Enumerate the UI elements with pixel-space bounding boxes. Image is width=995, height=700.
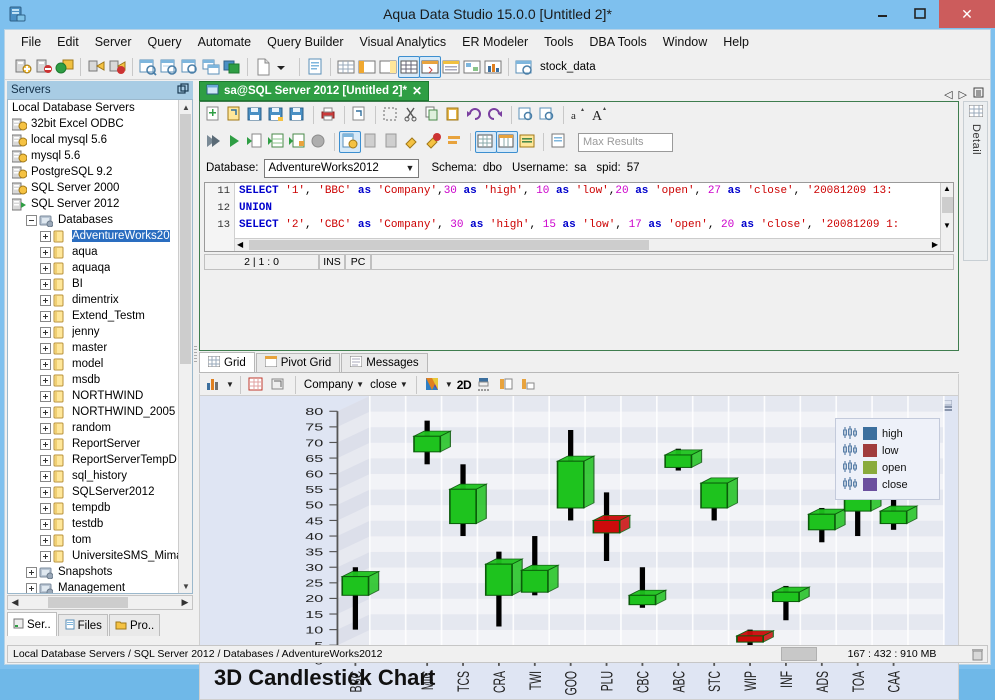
- detail-grid-icon: [969, 105, 983, 120]
- toolbar-separator: [295, 376, 296, 394]
- decrease-font-icon[interactable]: a: [569, 105, 589, 125]
- status-bar: Local Database Servers / SQL Server 2012…: [7, 645, 988, 663]
- chart-label-toggle-icon[interactable]: [519, 375, 539, 395]
- menu-help[interactable]: Help: [715, 32, 757, 52]
- results-tab-bar: Grid Pivot Grid Messages: [199, 353, 959, 373]
- chart-grid-icon[interactable]: [247, 375, 267, 395]
- tree-item-label: Management: [58, 582, 125, 594]
- pc-indicator: PC: [345, 254, 371, 270]
- tree-item-label: PostgreSQL 9.2: [31, 166, 112, 178]
- tree-item[interactable]: BI: [8, 276, 192, 292]
- tab-projects-label: Pro..: [130, 620, 154, 632]
- select-all-icon[interactable]: [381, 105, 401, 125]
- menu-dba-tools[interactable]: DBA Tools: [581, 32, 654, 52]
- scroll-up-arrow[interactable]: ▲: [179, 100, 193, 114]
- tree-item[interactable]: ReportServer: [8, 436, 192, 452]
- tree-item[interactable]: Management: [8, 580, 192, 594]
- line-number-gutter: 11 12 13: [205, 183, 235, 251]
- svg-text:35: 35: [305, 546, 323, 557]
- chart-type-dropdown-icon[interactable]: ▼: [226, 380, 234, 389]
- toolbar-separator: [416, 376, 417, 394]
- hscroll-right-arrow[interactable]: ▶: [178, 596, 192, 609]
- sql-vertical-scrollbar[interactable]: ▲ ▼: [940, 183, 953, 251]
- legend-label-low: low: [882, 445, 899, 457]
- application-window: Aqua Data Studio 15.0.0 [Untitled 2]* ✕ …: [0, 0, 995, 669]
- find-icon[interactable]: [517, 105, 537, 125]
- refresh-icon[interactable]: [350, 105, 370, 125]
- tree-root[interactable]: Local Database Servers: [8, 100, 192, 116]
- editor-tab-close-icon[interactable]: ✕: [412, 84, 422, 98]
- pivot-grid-tab-icon: [265, 356, 277, 370]
- toolbar-separator: [80, 58, 81, 76]
- tree-item[interactable]: ReportServerTempD: [8, 452, 192, 468]
- tree-horizontal-scrollbar[interactable]: ◀ ▶: [7, 595, 193, 610]
- tree-item-label: aqua: [72, 246, 98, 258]
- tree-expander-icon[interactable]: [40, 503, 51, 514]
- tab-projects[interactable]: Pro..: [109, 614, 160, 636]
- servers-panel-header: Servers: [7, 81, 193, 99]
- tree-expander-icon[interactable]: [40, 471, 51, 482]
- main-toolbar: stock_data: [5, 54, 990, 80]
- svg-text:WIP: WIP: [741, 671, 760, 691]
- legend-item: low: [842, 442, 933, 459]
- tab-next-icon[interactable]: ▷: [959, 88, 967, 101]
- line-number: 12: [205, 200, 234, 217]
- tree-item[interactable]: aquaqa: [8, 260, 192, 276]
- redo-icon[interactable]: [486, 105, 506, 125]
- compare-windows-icon[interactable]: [222, 57, 242, 77]
- toolbar-separator: [330, 58, 331, 76]
- menu-file[interactable]: File: [13, 32, 49, 52]
- tree-expander-icon[interactable]: [40, 295, 51, 306]
- legend-item: high: [842, 425, 933, 442]
- undock-icon[interactable]: [177, 83, 189, 98]
- tab-files-label: Files: [78, 620, 102, 632]
- menu-automate[interactable]: Automate: [190, 32, 260, 52]
- legend-swatch-close: [863, 478, 877, 491]
- tree-expander-icon[interactable]: [40, 391, 51, 402]
- results-settings-icon[interactable]: [518, 132, 538, 152]
- connect-plug-icon[interactable]: [86, 57, 106, 77]
- commit-icon[interactable]: [361, 132, 381, 152]
- database-icon: [53, 390, 68, 403]
- paste-icon[interactable]: [444, 105, 464, 125]
- database-icon: [53, 422, 68, 435]
- schema-value: dbo: [483, 162, 502, 174]
- minimize-button[interactable]: [863, 0, 901, 28]
- tree-item[interactable]: SQL Server 2012: [8, 196, 192, 212]
- svg-text:a: a: [571, 110, 576, 122]
- panel-bottom-tabs: Ser.. Files Pro..: [7, 612, 193, 636]
- chart-resize-icon[interactable]: [475, 375, 495, 395]
- files-tab-icon: [64, 619, 75, 633]
- execute-to-grid-icon[interactable]: [267, 132, 287, 152]
- disconnect-plug-icon[interactable]: [107, 57, 127, 77]
- tree-expander-icon[interactable]: [40, 231, 51, 242]
- candlestick-glyph-icon: [842, 477, 858, 493]
- tree-expander-icon[interactable]: [40, 375, 51, 386]
- server-tree[interactable]: Local Database Servers32bit Excel ODBClo…: [7, 99, 193, 594]
- svg-text:PLU: PLU: [597, 671, 616, 691]
- tree-item[interactable]: master: [8, 340, 192, 356]
- svg-text:75: 75: [305, 422, 323, 433]
- tab-list-icon[interactable]: [973, 87, 984, 101]
- tree-item[interactable]: NORTHWIND_2005: [8, 404, 192, 420]
- tree-item-label: local mysql 5.6: [31, 134, 107, 146]
- chevron-down-icon: ▼: [356, 380, 364, 389]
- tree-item-label: AdventureWorks20: [72, 230, 170, 242]
- tree-expander-icon[interactable]: [40, 519, 51, 530]
- form-view-icon[interactable]: [357, 57, 377, 77]
- tree-item[interactable]: jenny: [8, 324, 192, 340]
- tab-messages[interactable]: Messages: [341, 353, 427, 372]
- detail-label: Detail: [970, 124, 982, 155]
- tree-expander-icon[interactable]: [40, 535, 51, 546]
- tree-item[interactable]: tempdb: [8, 500, 192, 516]
- tree-expander-icon[interactable]: [40, 407, 51, 418]
- tree-item[interactable]: Databases: [8, 212, 192, 228]
- find-replace-icon[interactable]: [538, 105, 558, 125]
- menu-tools[interactable]: Tools: [536, 32, 581, 52]
- chart-type-icon[interactable]: [204, 375, 224, 395]
- tree-root-label: Local Database Servers: [8, 102, 135, 114]
- hscroll-thumb[interactable]: [48, 597, 128, 608]
- color-palette-icon[interactable]: [423, 375, 443, 395]
- detail-sidebar[interactable]: Detail: [963, 101, 988, 261]
- tree-expander-icon[interactable]: [26, 567, 37, 578]
- window-controls: ✕: [863, 0, 995, 28]
- connect-session-icon[interactable]: [403, 132, 423, 152]
- tree-item[interactable]: NORTHWIND: [8, 388, 192, 404]
- svg-text:65: 65: [305, 453, 323, 464]
- editor-status-empty: [371, 254, 954, 270]
- category-field-value: Company: [304, 379, 353, 391]
- reconnect-icon[interactable]: [445, 132, 465, 152]
- tree-expander-icon[interactable]: [40, 359, 51, 370]
- grid-tab-icon: [208, 356, 220, 370]
- open-query-icon[interactable]: [180, 57, 200, 77]
- folder-icon: [39, 566, 54, 579]
- toolbar-separator: [132, 58, 133, 76]
- script-icon[interactable]: [305, 57, 325, 77]
- tree-item-label: UniversiteSMS_Mima: [72, 550, 183, 562]
- chart-view-icon[interactable]: [483, 57, 503, 77]
- editor-tab[interactable]: sa@SQL Server 2012 [Untitled 2]* ✕: [199, 81, 429, 101]
- tree-item[interactable]: mysql 5.6: [8, 148, 192, 164]
- tree-item-label: master: [72, 342, 107, 354]
- tree-item-label: BI: [72, 278, 83, 290]
- tab-servers[interactable]: Ser..: [7, 612, 57, 636]
- tree-item[interactable]: dimentrix: [8, 292, 192, 308]
- database-icon: [53, 246, 68, 259]
- delete-server-icon[interactable]: [34, 57, 54, 77]
- database-icon: [53, 358, 68, 371]
- query-analyzer-icon[interactable]: [138, 57, 158, 77]
- database-select[interactable]: AdventureWorks2012 ▼: [264, 159, 419, 178]
- menu-query[interactable]: Query: [140, 32, 190, 52]
- database-icon: [53, 406, 68, 419]
- svg-text:80: 80: [305, 406, 323, 417]
- chart-legend-toggle-icon[interactable]: [497, 375, 517, 395]
- menu-edit[interactable]: Edit: [49, 32, 87, 52]
- legend-swatch-open: [863, 461, 877, 474]
- svg-text:45: 45: [305, 515, 323, 526]
- database-icon: [53, 294, 68, 307]
- svg-text:CBC: CBC: [633, 671, 652, 693]
- toolbar-separator: [344, 106, 345, 124]
- caret-position: 2 | 1 : 0: [204, 254, 319, 270]
- tree-item-label: model: [72, 358, 103, 370]
- save-all-icon[interactable]: [288, 105, 308, 125]
- database-icon: [53, 550, 68, 563]
- grid-view-icon[interactable]: [336, 57, 356, 77]
- chart-layers-icon[interactable]: [269, 375, 289, 395]
- svg-text:15: 15: [305, 609, 323, 620]
- tab-prev-icon[interactable]: ◁: [944, 88, 952, 101]
- save-as-icon[interactable]: [267, 105, 287, 125]
- menu-window[interactable]: Window: [655, 32, 715, 52]
- tree-item[interactable]: local mysql 5.6: [8, 132, 192, 148]
- sql-horizontal-scrollbar[interactable]: ◀ ▶: [235, 238, 940, 251]
- workspace-area: sa@SQL Server 2012 [Untitled 2]* ✕ ◁ ▷ D…: [199, 81, 988, 642]
- disconnect-session-icon[interactable]: [424, 132, 444, 152]
- max-results-input[interactable]: Max Results: [578, 133, 673, 152]
- toolbar-separator: [543, 133, 544, 151]
- palette-dropdown-icon[interactable]: ▼: [445, 380, 453, 389]
- svg-text:CRA: CRA: [489, 670, 508, 693]
- sql-line: SELECT '2', 'CBC' as 'Company', 30 as 'h…: [239, 217, 899, 234]
- tree-item[interactable]: AdventureWorks20: [8, 228, 192, 244]
- tree-item[interactable]: SQL Server 2000: [8, 180, 192, 196]
- legend-label-open: open: [882, 462, 906, 474]
- tab-files[interactable]: Files: [58, 614, 108, 636]
- sql-text-area[interactable]: 11 12 13 SELECT '1', 'BBC' as 'Company',…: [204, 182, 954, 252]
- tree-item-label: ReportServer: [72, 438, 140, 450]
- database-icon: [53, 438, 68, 451]
- tree-item[interactable]: testdb: [8, 516, 192, 532]
- connection-info-row: Database: AdventureWorks2012 ▼ Schema: d…: [200, 156, 958, 180]
- tree-expander-icon[interactable]: [40, 311, 51, 322]
- menu-bar: File Edit Server Query Automate Query Bu…: [5, 30, 990, 54]
- legend-item: close: [842, 476, 933, 493]
- line-number: 13: [205, 217, 234, 234]
- results-pivot-toggle-icon[interactable]: [497, 132, 517, 152]
- legend-swatch-high: [863, 427, 877, 440]
- tree-item[interactable]: aqua: [8, 244, 192, 260]
- increase-font-icon[interactable]: A: [590, 105, 610, 125]
- splitter-grip[interactable]: [194, 346, 197, 372]
- tree-expander-icon[interactable]: [26, 583, 37, 594]
- undo-icon[interactable]: [465, 105, 485, 125]
- svg-text:GOO: GOO: [561, 671, 580, 696]
- category-field-select[interactable]: Company ▼: [302, 379, 366, 391]
- svg-text:30: 30: [305, 562, 323, 573]
- tree-expander-icon[interactable]: [40, 487, 51, 498]
- server-icon: [12, 166, 27, 179]
- tree-item[interactable]: sql_history: [8, 468, 192, 484]
- tree-item[interactable]: model: [8, 356, 192, 372]
- tree-expander-icon[interactable]: [40, 343, 51, 354]
- svg-text:ADS: ADS: [812, 671, 831, 692]
- toolbar-separator: [247, 58, 248, 76]
- close-button[interactable]: ✕: [939, 0, 995, 28]
- transaction-mode-icon[interactable]: [340, 132, 360, 152]
- query-plan-icon[interactable]: [549, 132, 569, 152]
- svg-text:10: 10: [305, 624, 323, 635]
- tree-item-label: ReportServerTempD: [72, 454, 177, 466]
- trash-icon[interactable]: [967, 648, 987, 661]
- menu-visual-analytics[interactable]: Visual Analytics: [352, 32, 455, 52]
- sql-line: SELECT '1', 'BBC' as 'Company',30 as 'hi…: [239, 183, 893, 200]
- main-frame: File Edit Server Query Automate Query Bu…: [4, 29, 991, 665]
- tree-scroll-thumb[interactable]: [180, 114, 191, 364]
- diagram-view-icon[interactable]: [462, 57, 482, 77]
- open-file-icon[interactable]: [225, 105, 245, 125]
- scroll-down-arrow[interactable]: ▼: [179, 579, 193, 593]
- value-field-select[interactable]: close ▼: [368, 379, 410, 391]
- new-server-icon[interactable]: [13, 57, 33, 77]
- tree-expander-icon[interactable]: [40, 279, 51, 290]
- server-icon: [12, 198, 27, 211]
- grid-results-icon[interactable]: [399, 57, 419, 77]
- results-grid-toggle-icon[interactable]: [476, 132, 496, 152]
- copy-icon[interactable]: [423, 105, 443, 125]
- table-window-icon[interactable]: [201, 57, 221, 77]
- username-value: sa: [574, 162, 586, 174]
- tree-expander-icon[interactable]: [40, 439, 51, 450]
- rollback-icon[interactable]: [382, 132, 402, 152]
- candlestick-glyph-icon: [842, 443, 858, 459]
- editor-status-line: 2 | 1 : 0 INS PC: [204, 254, 954, 270]
- tab-servers-label: Ser..: [27, 619, 51, 631]
- line-number: 11: [205, 183, 234, 200]
- server-icon: [12, 134, 27, 147]
- tree-item-label: Extend_Testm: [72, 310, 145, 322]
- database-icon: [53, 230, 68, 243]
- menu-server[interactable]: Server: [87, 32, 140, 52]
- tab-pivot-grid-label: Pivot Grid: [281, 357, 332, 369]
- value-field-value: close: [370, 379, 397, 391]
- toolbar-separator: [299, 58, 300, 76]
- new-tab-icon[interactable]: [204, 105, 224, 125]
- database-icon: [53, 486, 68, 499]
- tree-expander-icon[interactable]: [40, 423, 51, 434]
- messages-tab-icon: [350, 356, 362, 370]
- username-label: Username:: [512, 162, 568, 174]
- editor-tab-icon: [206, 83, 219, 99]
- tree-expander-icon[interactable]: [40, 327, 51, 338]
- tree-expander-icon[interactable]: [40, 455, 51, 466]
- tree-item[interactable]: 32bit Excel ODBC: [8, 116, 192, 132]
- svg-text:40: 40: [305, 531, 323, 542]
- tree-item[interactable]: tom: [8, 532, 192, 548]
- tree-item-label: 32bit Excel ODBC: [31, 118, 124, 130]
- database-icon: [53, 310, 68, 323]
- tree-item-label: testdb: [72, 518, 103, 530]
- sql-line: UNION: [239, 200, 272, 217]
- query-builder-icon[interactable]: [159, 57, 179, 77]
- status-memory: 167 : 432 : 910 MB: [817, 648, 967, 660]
- tree-expander-icon[interactable]: [26, 215, 37, 226]
- sql-editor-panel: a A: [199, 101, 959, 351]
- svg-text:ABC: ABC: [669, 671, 688, 692]
- status-progress: [781, 647, 817, 661]
- stock-data-icon[interactable]: [514, 57, 534, 77]
- svg-text:TCS: TCS: [454, 671, 473, 692]
- tree-item[interactable]: msdb: [8, 372, 192, 388]
- hscroll-left-arrow[interactable]: ◀: [8, 596, 22, 609]
- toolbar-separator: [313, 106, 314, 124]
- svg-text:INF: INF: [776, 671, 795, 688]
- list-view-icon[interactable]: [441, 57, 461, 77]
- tree-item[interactable]: UniversiteSMS_Mima: [8, 548, 192, 564]
- save-icon[interactable]: [246, 105, 266, 125]
- menu-query-builder[interactable]: Query Builder: [259, 32, 351, 52]
- stop-execution-icon[interactable]: [309, 132, 329, 152]
- execute-to-file-icon[interactable]: [246, 132, 266, 152]
- database-icon: [53, 518, 68, 531]
- tree-expander-icon[interactable]: [40, 247, 51, 258]
- tree-item-label: NORTHWIND_2005: [72, 406, 175, 418]
- candlestick-glyph-icon: [842, 460, 858, 476]
- pivot-grid-icon[interactable]: [420, 57, 440, 77]
- cut-icon[interactable]: [402, 105, 422, 125]
- tree-item-label: dimentrix: [72, 294, 119, 306]
- dimension-toggle[interactable]: 2D: [455, 378, 473, 392]
- tree-item[interactable]: random: [8, 420, 192, 436]
- legend-label-close: close: [882, 479, 908, 491]
- editor-tab-bar: sa@SQL Server 2012 [Untitled 2]* ✕ ◁ ▷: [199, 81, 988, 101]
- database-label: Database:: [206, 162, 258, 174]
- tree-item[interactable]: SQLServer2012: [8, 484, 192, 500]
- execute-batch-icon[interactable]: [288, 132, 308, 152]
- tab-grid-label: Grid: [224, 357, 246, 369]
- svg-text:CAA: CAA: [884, 670, 903, 692]
- maximize-button[interactable]: [901, 0, 939, 28]
- tree-item-label: tom: [72, 534, 91, 546]
- database-icon: [53, 470, 68, 483]
- print-icon[interactable]: [319, 105, 339, 125]
- servers-panel: Servers Local Database Servers32bit Exce…: [7, 81, 193, 642]
- folder-icon: [39, 214, 54, 227]
- new-file-icon[interactable]: [253, 57, 273, 77]
- editor-toolbar-row1: a A: [200, 102, 958, 128]
- file-dropdown-arrow-icon[interactable]: [274, 57, 294, 77]
- chart-legend: high low open: [835, 418, 940, 500]
- database-icon: [53, 374, 68, 387]
- tree-item[interactable]: Snapshots: [8, 564, 192, 580]
- tree-item-label: Snapshots: [58, 566, 112, 578]
- tree-item[interactable]: PostgreSQL 9.2: [8, 164, 192, 180]
- tree-item-label: jenny: [72, 326, 100, 338]
- tree-expander-icon[interactable]: [40, 263, 51, 274]
- execute-all-icon[interactable]: [204, 132, 224, 152]
- connect-icon[interactable]: [55, 57, 75, 77]
- tab-grid[interactable]: Grid: [199, 352, 255, 372]
- tab-nav-controls: ◁ ▷: [944, 87, 988, 101]
- server-icon: [12, 150, 27, 163]
- tree-item[interactable]: Extend_Testm: [8, 308, 192, 324]
- tab-pivot-grid[interactable]: Pivot Grid: [256, 353, 341, 372]
- execute-icon[interactable]: [225, 132, 245, 152]
- menu-er-modeler[interactable]: ER Modeler: [454, 32, 536, 52]
- text-view-icon[interactable]: [378, 57, 398, 77]
- tree-item-label: Databases: [58, 214, 113, 226]
- window-title: Aqua Data Studio 15.0.0 [Untitled 2]*: [0, 0, 995, 28]
- editor-tab-label: sa@SQL Server 2012 [Untitled 2]*: [224, 85, 407, 97]
- tree-expander-icon[interactable]: [40, 551, 51, 562]
- tree-vertical-scrollbar[interactable]: ▲ ▼: [178, 100, 192, 593]
